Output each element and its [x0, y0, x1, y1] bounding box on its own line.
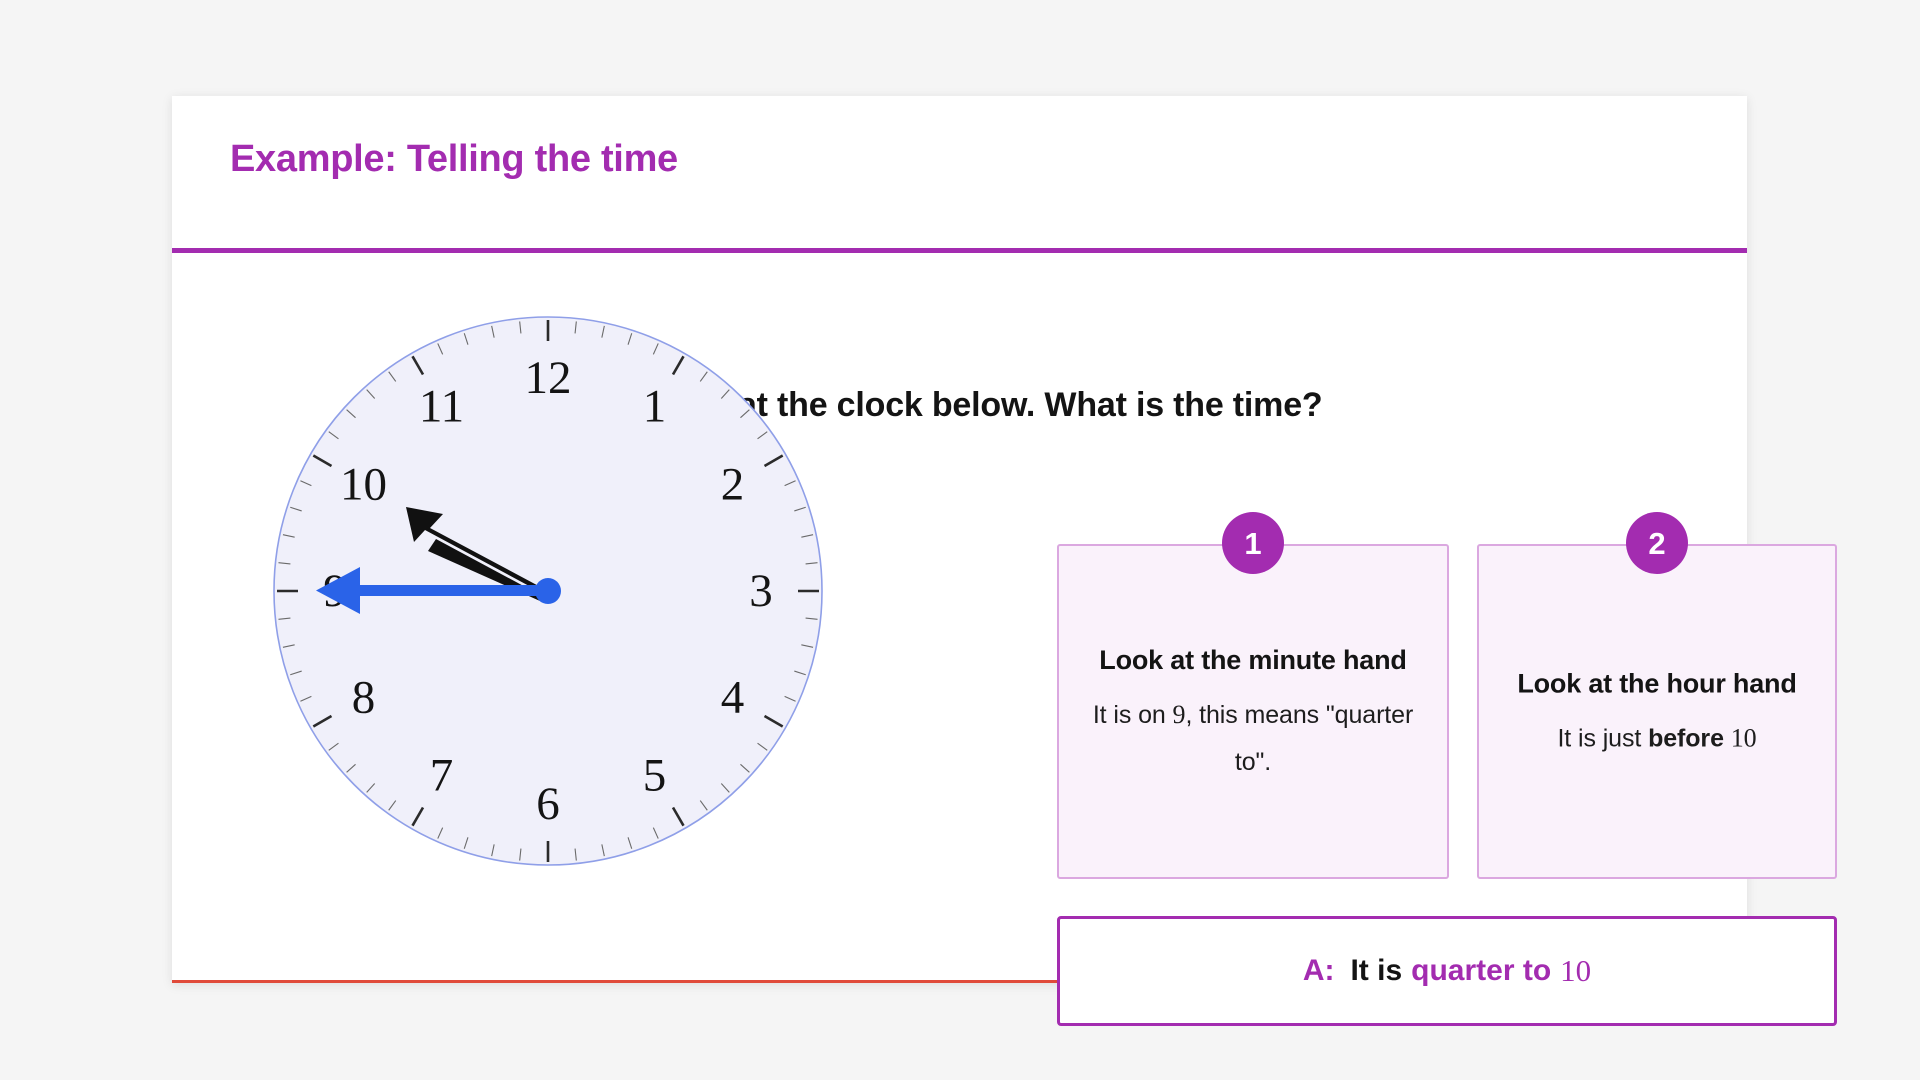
- svg-text:8: 8: [352, 672, 376, 724]
- svg-text:2: 2: [721, 459, 745, 511]
- step-text-bold-2: before: [1648, 724, 1724, 752]
- page-title: Example: Telling the time: [230, 138, 678, 181]
- step-card-2: 2 Look at the hour hand It is just befor…: [1477, 544, 1837, 879]
- slide-card: Example: Telling the time Q:Look at the …: [172, 96, 1747, 983]
- answer-marker: A:: [1303, 954, 1335, 988]
- svg-text:12: 12: [525, 352, 572, 404]
- clock-illustration: 123456789101112: [268, 311, 828, 871]
- svg-text:11: 11: [419, 381, 464, 433]
- step-text-number-1: 9: [1173, 700, 1186, 729]
- step-text-lead-2: It is just: [1557, 724, 1641, 752]
- svg-text:10: 10: [340, 459, 387, 511]
- answer-lead: It is: [1350, 954, 1402, 988]
- clock-center-hub: [535, 578, 561, 604]
- svg-text:7: 7: [430, 749, 454, 801]
- answer-number: 10: [1560, 953, 1591, 989]
- step-body-1: Look at the minute hand It is on 9, this…: [1059, 636, 1447, 786]
- svg-text:5: 5: [643, 749, 667, 801]
- step-body-2: Look at the hour hand It is just before …: [1479, 660, 1835, 763]
- header-divider: [172, 248, 1747, 253]
- step-badge-1: 1: [1222, 512, 1284, 574]
- step-title-2: Look at the hour hand: [1499, 660, 1815, 707]
- step-text-lead-1: It is on: [1093, 701, 1166, 729]
- clock-face-svg: 123456789101112: [268, 311, 828, 871]
- slide-header: Example: Telling the time: [172, 96, 1747, 248]
- svg-text:4: 4: [721, 672, 745, 724]
- answer-highlight: quarter to: [1411, 954, 1551, 988]
- svg-text:3: 3: [749, 565, 773, 617]
- step-text-1: It is on 9, this means "quarter to".: [1079, 690, 1427, 787]
- step-text-tail-1: , this means "quarter to".: [1185, 701, 1413, 777]
- step-card-1: 1 Look at the minute hand It is on 9, th…: [1057, 544, 1449, 879]
- step-text-2: It is just before 10: [1499, 713, 1815, 763]
- step-text-number-2: 10: [1731, 723, 1757, 752]
- step-badge-2: 2: [1626, 512, 1688, 574]
- svg-text:1: 1: [643, 381, 667, 433]
- step-title-1: Look at the minute hand: [1079, 636, 1427, 683]
- svg-text:6: 6: [536, 778, 560, 830]
- answer-bar: A:It isquarter to10: [1057, 916, 1837, 1026]
